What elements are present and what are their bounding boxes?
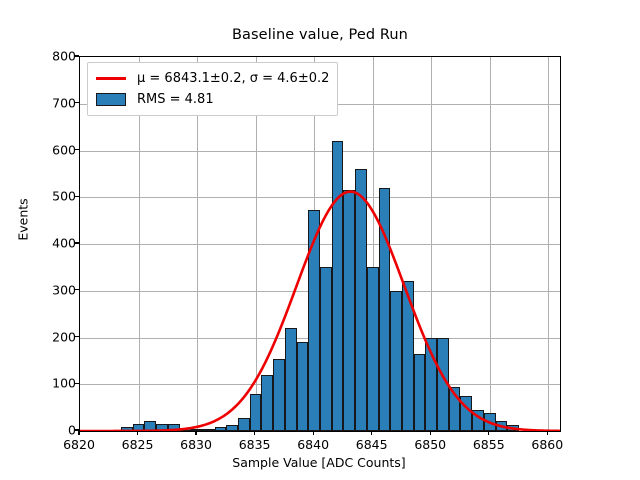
figure-canvas: Baseline value, Ped Run 0100200300400500… [0,0,640,480]
y-tick-label: 600 [0,142,76,157]
y-tick-label: 0 [0,423,76,438]
legend-item-label: μ = 6843.1±0.2, σ = 4.6±0.2 [137,71,329,86]
page-title: Baseline value, Ped Run [0,27,640,43]
y-tick-label: 500 [0,189,76,204]
x-axis-label: Sample Value [ADC Counts] [79,455,559,470]
x-tick-mark [195,431,196,435]
y-tick-label: 100 [0,376,76,391]
x-tick-mark [137,431,138,435]
x-tick-mark [547,431,548,435]
y-tick-label: 800 [0,49,76,64]
x-tick-label: 6860 [507,437,587,452]
legend-line-key-icon [94,77,128,80]
x-tick-mark [313,431,314,435]
x-tick-mark [371,431,372,435]
y-axis-label: Events [16,120,31,320]
x-tick-mark [430,431,431,435]
legend-item-fit: μ = 6843.1±0.2, σ = 4.6±0.2 [94,68,329,89]
y-tick-label: 700 [0,95,76,110]
gaussian-curve-path [80,192,560,431]
legend-item-histogram: RMS = 4.81 [94,89,329,110]
legend-patch-key-icon [94,93,128,106]
x-tick-mark [488,431,489,435]
y-tick-label: 400 [0,236,76,251]
legend-item-label: RMS = 4.81 [137,92,214,107]
y-tick-label: 300 [0,282,76,297]
x-tick-mark [78,431,79,435]
chart-legend: μ = 6843.1±0.2, σ = 4.6±0.2 RMS = 4.81 [87,62,338,116]
x-tick-mark [254,431,255,435]
y-tick-label: 200 [0,329,76,344]
